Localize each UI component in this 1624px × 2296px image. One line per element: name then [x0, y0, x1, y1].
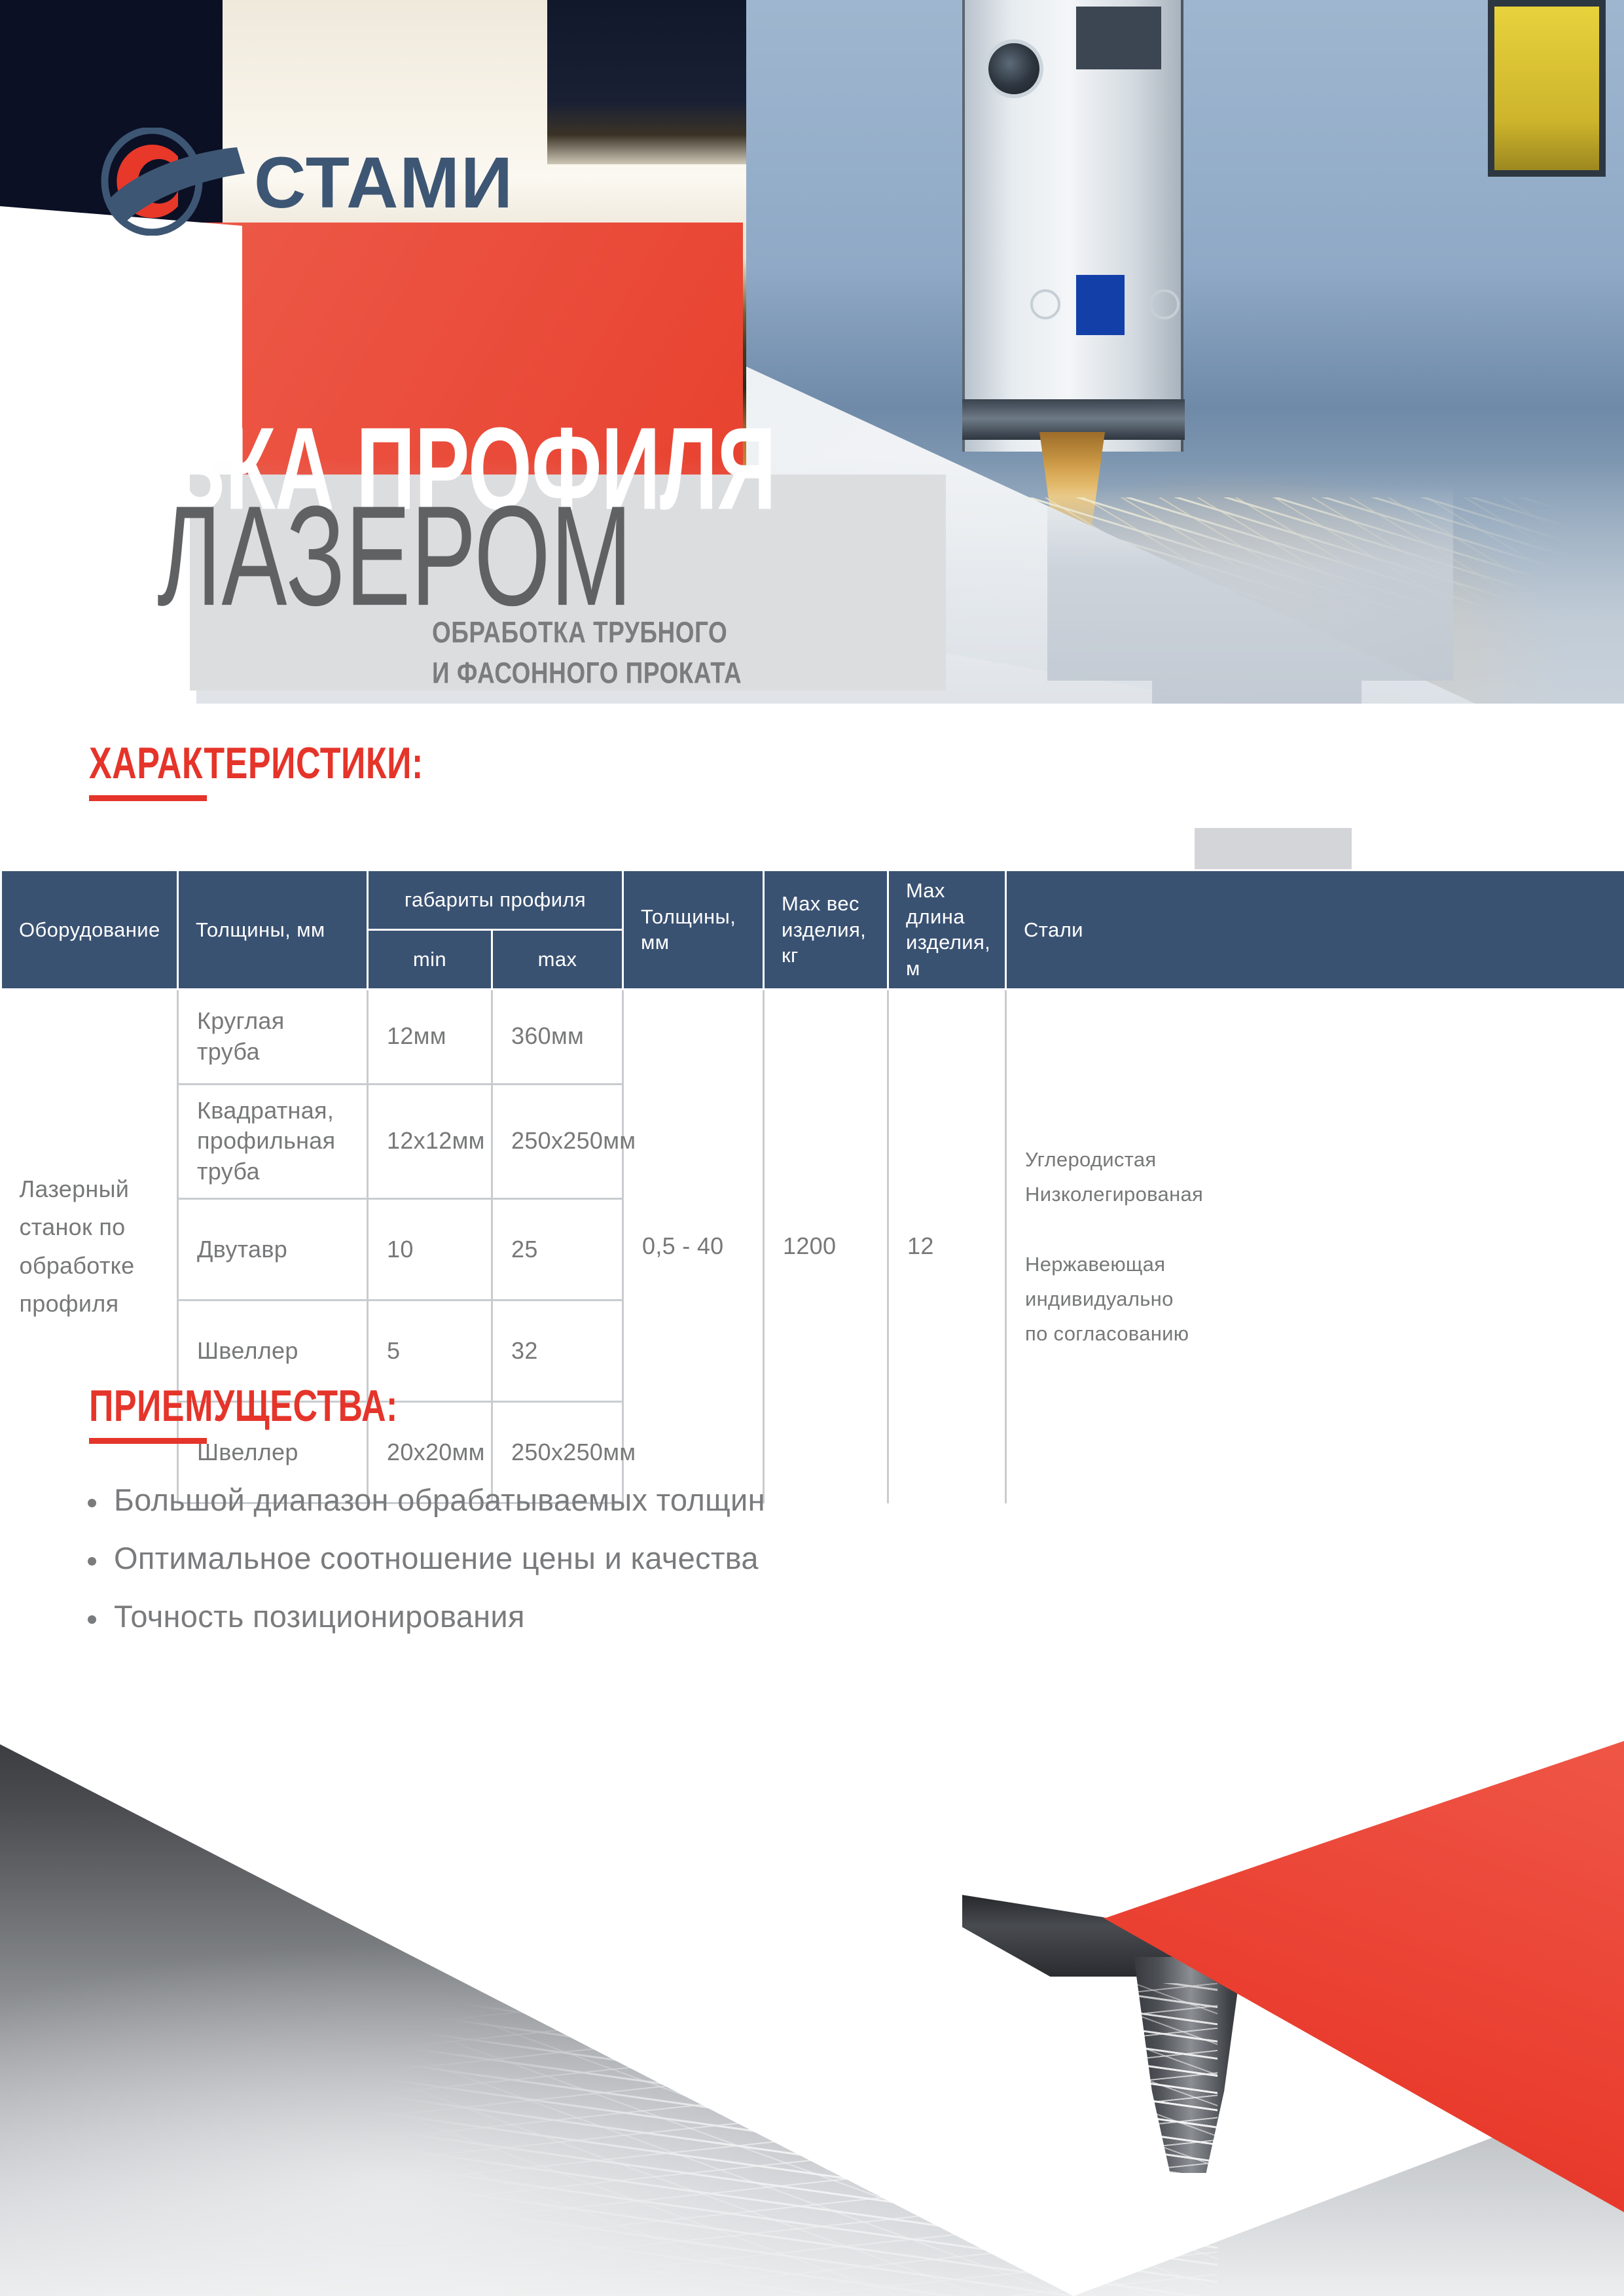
laser-dark-panel: [1076, 7, 1161, 69]
th-max: max: [492, 929, 623, 989]
hero-title-line2: ЛАЗЕРОМ: [157, 484, 632, 627]
laser-head-body: [962, 0, 1183, 452]
footer-photo-band: [0, 1669, 1624, 2296]
list-item: Оптимальное соотношение цены и качества: [84, 1543, 765, 1573]
laser-screw-right-icon: [1149, 289, 1180, 319]
td-max-weight: 1200: [764, 989, 888, 1503]
td-max-length: 12: [888, 989, 1006, 1503]
laser-blue-label-icon: [1076, 275, 1125, 335]
footer-sparks: [0, 1983, 1218, 2296]
th-equipment: Оборудование: [1, 870, 178, 990]
characteristics-heading: ХАРАКТЕРИСТИКИ:: [89, 738, 424, 789]
th-steels: Стали: [1006, 870, 1624, 990]
hero-ghost-machine: [1021, 484, 1479, 704]
table-header: Оборудование Толщины, мм габариты профил…: [1, 870, 1624, 990]
brand-logo: СТАМИ: [98, 128, 550, 236]
td-max: 32: [492, 1300, 623, 1402]
table-top-gray-accent: [1195, 828, 1352, 870]
th-min: min: [368, 929, 492, 989]
td-steels: Углеродистая Низколегированая Нержавеюща…: [1006, 989, 1624, 1503]
td-min: 12x12мм: [368, 1084, 492, 1198]
th-thickness-sheet: Толщины, мм: [623, 870, 764, 990]
table-row: Лазерный станок по обработке профиля Кру…: [1, 989, 1624, 1084]
th-max-length: Max длина изделия, м: [888, 870, 1006, 990]
td-max: 360мм: [492, 989, 623, 1084]
advantages-underline: [89, 1438, 207, 1444]
td-profile: Двутавр: [178, 1199, 368, 1300]
laser-screw-left-icon: [1030, 289, 1060, 319]
machine-yellow-plate-icon: [1488, 0, 1606, 177]
table-header-row-1: Оборудование Толщины, мм габариты профил…: [1, 870, 1624, 930]
th-profile-dimensions: габариты профиля: [368, 870, 623, 930]
td-profile: Круглая труба: [178, 989, 368, 1084]
th-max-weight: Max вес изделия, кг: [764, 870, 888, 990]
td-max: 250x250мм: [492, 1084, 623, 1198]
td-min: 12мм: [368, 989, 492, 1084]
stami-swoosh-logo-icon: СТАМИ: [98, 128, 550, 236]
characteristics-underline: [89, 795, 207, 801]
hero-subtitle: ОБРАБОТКА ТРУБНОГО И ФАСОННОГО ПРОКАТА: [432, 612, 742, 694]
laser-lens-port-icon: [984, 39, 1043, 98]
th-thickness-profile: Толщины, мм: [178, 870, 368, 990]
td-min: 10: [368, 1199, 492, 1300]
svg-text:СТАМИ: СТАМИ: [254, 143, 514, 223]
advantages-heading: ПРИЕМУЩЕСТВА:: [89, 1381, 398, 1432]
td-max: 25: [492, 1199, 623, 1300]
list-item: Большой диапазон обрабатываемых толщин: [84, 1484, 765, 1515]
td-profile: Квадратная, профильная труба: [178, 1084, 368, 1198]
td-thickness-sheet: 0,5 - 40: [623, 989, 764, 1503]
list-item: Точность позиционирования: [84, 1601, 765, 1632]
advantages-list: Большой диапазон обрабатываемых толщин О…: [84, 1484, 765, 1659]
